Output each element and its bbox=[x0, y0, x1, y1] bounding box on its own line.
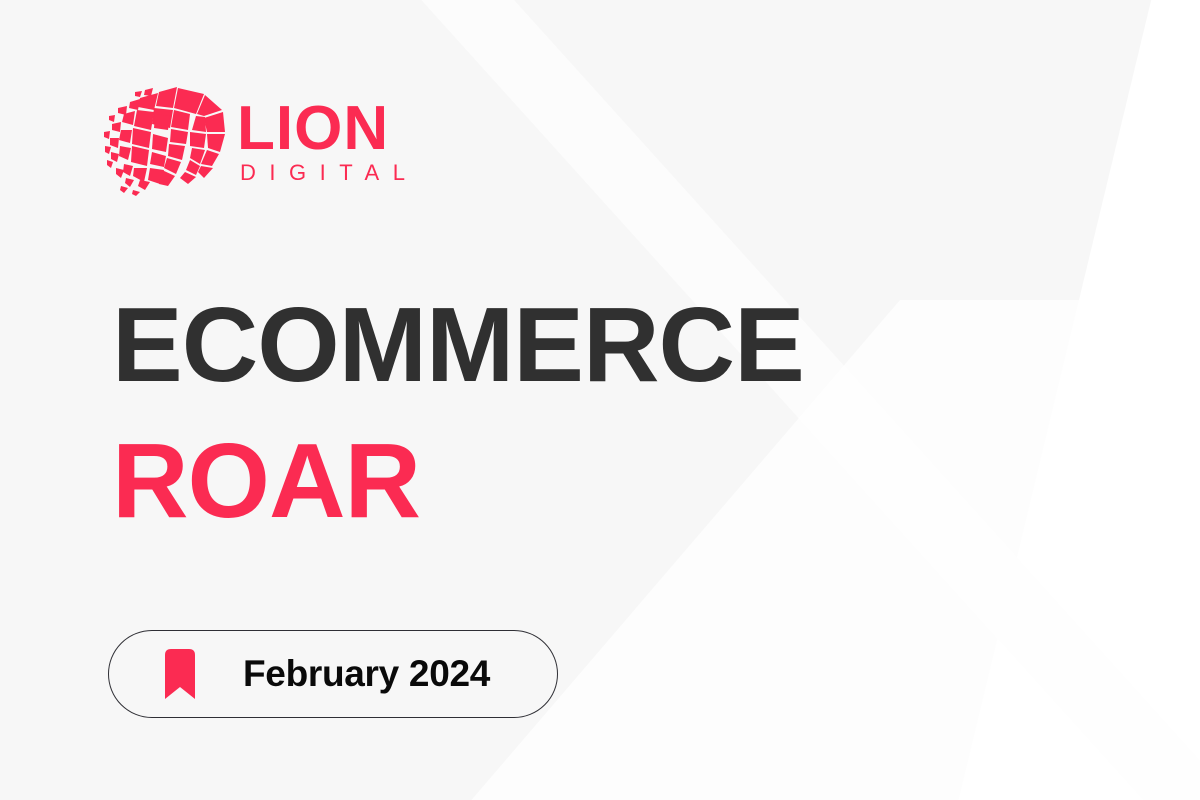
headline-line-primary: ECOMMERCE bbox=[112, 288, 804, 402]
cover-canvas: LION DIGITAL ECOMMERCE ROAR February 202… bbox=[0, 0, 1200, 800]
brand-logo: LION DIGITAL bbox=[104, 78, 414, 200]
logo-tagline: DIGITAL bbox=[240, 162, 418, 184]
date-badge-label: February 2024 bbox=[243, 653, 490, 695]
headline-line-accent: ROAR bbox=[112, 424, 804, 538]
page-title: ECOMMERCE ROAR bbox=[112, 288, 804, 539]
date-badge: February 2024 bbox=[108, 630, 558, 718]
lion-head-polygon-icon bbox=[104, 80, 229, 198]
diagonal-band-top-right bbox=[740, 0, 1200, 800]
bookmark-icon bbox=[161, 649, 199, 699]
logo-wordmark: LION DIGITAL bbox=[237, 100, 418, 184]
logo-name: LION bbox=[237, 100, 418, 157]
